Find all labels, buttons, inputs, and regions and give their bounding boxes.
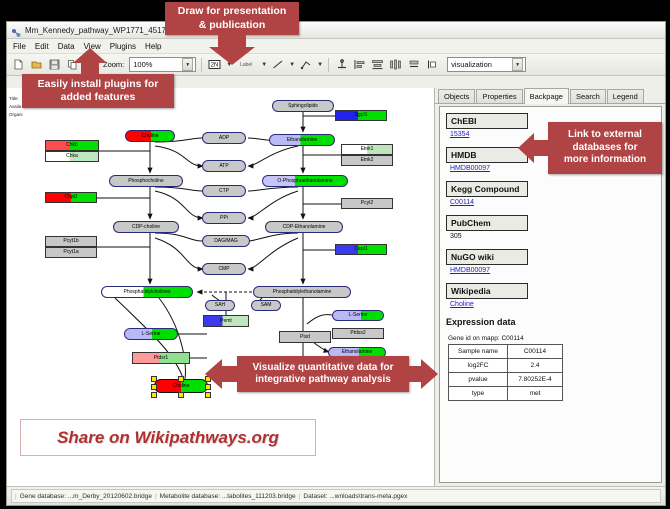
- cell-key: pvalue: [449, 373, 508, 387]
- db-card-hmdb: HMDB: [446, 147, 528, 163]
- node-label: Chpt1: [64, 195, 77, 200]
- distribute-horizontal-icon[interactable]: [388, 57, 403, 72]
- toolbar-separator: [328, 58, 329, 72]
- node-label: Ethanolamine: [287, 138, 318, 143]
- status-bar: | Gene database: ...m_Derby_20120602.bri…: [7, 486, 665, 505]
- visualization-value: visualization: [451, 60, 492, 69]
- node-label: Etnk1: [361, 147, 374, 152]
- cofactor-node[interactable]: CMP: [202, 263, 246, 275]
- window-titlebar: Mm_Kennedy_pathway_WP1771_45176.gpml: [7, 22, 665, 39]
- node-label: Pcyt1a: [63, 250, 78, 255]
- node-label: DAG/MAG: [214, 239, 238, 244]
- tab-search[interactable]: Search: [570, 89, 606, 103]
- selection-handle[interactable]: [178, 376, 184, 382]
- callout-share-text: Share on Wikipathways.org: [57, 428, 279, 448]
- metabolite-node[interactable]: CDP-Ethanolamine: [265, 221, 343, 233]
- distribute-vertical-icon[interactable]: [370, 57, 385, 72]
- cofactor-node[interactable]: PPi: [202, 212, 246, 224]
- arrow-tool-icon[interactable]: [298, 57, 313, 72]
- canvas-info-organism: Organi: [9, 112, 23, 117]
- callout-visualize-left-head: [205, 359, 222, 389]
- screenshot-frame: Mm_Kennedy_pathway_WP1771_45176.gpml Fil…: [0, 0, 670, 509]
- line-chevron-icon[interactable]: ▼: [289, 62, 295, 68]
- new-file-icon[interactable]: [11, 57, 26, 72]
- callout-links-line3: more information: [564, 154, 646, 167]
- metabolite-node[interactable]: Choline: [125, 130, 175, 142]
- gene-node[interactable]: Pcyt1a: [45, 247, 97, 258]
- node-label: CDP-Ethanolamine: [283, 225, 326, 230]
- metabolite-node[interactable]: Phosphatidylethanolamine: [253, 286, 351, 298]
- callout-draw-arrow-stem: [218, 35, 246, 47]
- chevron-down-icon[interactable]: ▼: [182, 58, 193, 71]
- tab-backpage[interactable]: Backpage: [524, 88, 569, 104]
- chevron-down-icon[interactable]: ▼: [512, 58, 523, 71]
- status-bar-inner: | Gene database: ...m_Derby_20120602.bri…: [11, 489, 661, 503]
- cofactor-node[interactable]: ATP: [202, 160, 246, 172]
- selection-handle[interactable]: [151, 376, 157, 382]
- toolbar-separator: [201, 58, 202, 72]
- status-dataset: Dataset: ...wnloads\trans-meta.pgex: [303, 493, 407, 500]
- group-icon[interactable]: [424, 57, 439, 72]
- table-row: type met: [449, 387, 563, 401]
- node-label: Chkb: [66, 143, 78, 148]
- metabolite-node[interactable]: CDP-choline: [113, 221, 179, 233]
- menu-plugins[interactable]: Plugins: [109, 42, 137, 51]
- cell-value: 7.80252E-4: [508, 373, 563, 387]
- node-label: O-Phosphoethanolamine: [277, 179, 332, 184]
- save-file-icon[interactable]: [47, 57, 62, 72]
- label-chevron-icon[interactable]: ▼: [261, 62, 267, 68]
- cell-value: met: [508, 387, 563, 401]
- node-label: Pemt: [220, 319, 232, 324]
- node-label: Ptdsr1: [154, 356, 168, 361]
- metabolite-node[interactable]: O-Phosphoethanolamine: [262, 175, 348, 187]
- selection-handle[interactable]: [151, 392, 157, 398]
- cofactor-node[interactable]: CTP: [202, 185, 246, 197]
- tab-properties[interactable]: Properties: [476, 89, 522, 103]
- node-label: ATP: [219, 164, 228, 169]
- callout-visualize-line2: integrative pathway analysis: [255, 374, 391, 387]
- callout-draw-arrow-head: [209, 47, 255, 65]
- node-label: L-Serine: [142, 332, 161, 337]
- db-card-nugo: NuGO wiki: [446, 249, 528, 265]
- node-label: Pcyt1b: [63, 239, 78, 244]
- table-row: Sample name C00114: [449, 345, 563, 359]
- expression-data-heading: Expression data: [446, 317, 661, 327]
- db-link-kegg[interactable]: C00114: [450, 199, 661, 206]
- node-label: Etnk2: [361, 158, 374, 163]
- visualization-combo[interactable]: visualization ▼: [447, 57, 526, 72]
- menu-edit[interactable]: Edit: [34, 42, 50, 51]
- callout-visualize-left-stem: [221, 366, 239, 382]
- callout-draw: Draw for presentation & publication: [165, 2, 299, 35]
- tab-legend[interactable]: Legend: [607, 89, 644, 103]
- canvas-info-title: Title:: [9, 96, 19, 101]
- node-label: Cept1: [354, 247, 367, 252]
- line-tool-icon[interactable]: [270, 57, 285, 72]
- callout-plugins: Easily install plugins for added feature…: [22, 74, 174, 108]
- gene-node[interactable]: Cept1: [335, 244, 387, 255]
- callout-links-arrow-head: [518, 133, 534, 163]
- db-card-chebi: ChEBI: [446, 113, 528, 129]
- gene-node[interactable]: Pisd: [279, 331, 331, 343]
- callout-draw-line1: Draw for presentation: [178, 5, 287, 18]
- gene-node[interactable]: Chkb: [45, 140, 99, 151]
- callout-links: Link to external databases for more info…: [548, 122, 662, 174]
- node-label: CDP-choline: [132, 225, 160, 230]
- cofactor-node[interactable]: SAH: [205, 300, 235, 311]
- cell-key: Sample name: [449, 345, 508, 359]
- gene-node[interactable]: Chpt1: [45, 192, 97, 203]
- node-label: Phosphatidylcholines: [124, 290, 171, 295]
- node-label: Chka: [66, 154, 78, 159]
- node-label: Pisd: [300, 335, 310, 340]
- stack-icon[interactable]: [406, 57, 421, 72]
- align-left-icon[interactable]: [352, 57, 367, 72]
- node-label: Sphingolipids: [288, 104, 318, 109]
- cell-key: type: [449, 387, 508, 401]
- metabolite-node[interactable]: Phosphatidylcholines: [101, 286, 193, 298]
- status-divider: |: [15, 493, 17, 500]
- node-label: Ethanolamine: [342, 350, 373, 355]
- status-divider: |: [155, 493, 157, 500]
- pathvisio-icon: [11, 25, 21, 35]
- gene-node[interactable]: Ptdss2: [332, 328, 384, 339]
- expression-data-table: Sample name C00114 log2FC 2.4 pvalue 7.8…: [448, 344, 563, 401]
- callout-visualize: Visualize quantitative data for integrat…: [237, 356, 409, 392]
- gene-node[interactable]: Pcyt1b: [45, 236, 97, 247]
- arrow-chevron-icon[interactable]: ▼: [317, 62, 323, 68]
- cell-value: C00114: [508, 345, 563, 359]
- anchor-tool-icon[interactable]: [334, 57, 349, 72]
- node-label: Sgpl1: [355, 113, 368, 118]
- metabolite-node[interactable]: L-Serine: [124, 328, 178, 340]
- node-label: Phosphatidylethanolamine: [273, 290, 332, 295]
- metabolite-node[interactable]: Phosphocholine: [109, 175, 183, 187]
- node-label: Phosphocholine: [128, 179, 164, 184]
- callout-share: Share on Wikipathways.org: [20, 419, 316, 456]
- callout-links-line1: Link to external: [568, 129, 642, 142]
- tab-objects[interactable]: Objects: [438, 89, 475, 103]
- menu-help[interactable]: Help: [144, 42, 162, 51]
- cell-value: 2.4: [508, 359, 563, 373]
- callout-visualize-right-head: [421, 359, 438, 389]
- gene-node[interactable]: Etnk2: [341, 155, 393, 166]
- gene-node[interactable]: Sgpl1: [335, 110, 387, 121]
- node-label: Choline: [142, 134, 159, 139]
- metabolite-node[interactable]: Ethanolamine: [269, 134, 335, 146]
- db-card-wikipedia: Wikipedia: [446, 283, 528, 299]
- db-card-pubchem: PubChem: [446, 215, 528, 231]
- callout-plugins-line1: Easily install plugins for: [38, 78, 159, 91]
- callout-plugins-arrow-stem: [81, 62, 99, 75]
- metabolite-node[interactable]: L-Serine: [332, 310, 384, 321]
- gene-node[interactable]: Pcyt2: [341, 198, 393, 209]
- gene-node[interactable]: Chka: [45, 151, 99, 162]
- table-row: pvalue 7.80252E-4: [449, 373, 563, 387]
- db-link-wikipedia[interactable]: Choline: [450, 301, 661, 308]
- callout-visualize-line1: Visualize quantitative data for: [253, 362, 394, 375]
- metabolite-node[interactable]: Sphingolipids: [272, 100, 334, 112]
- selection-handle[interactable]: [178, 392, 184, 398]
- open-file-icon[interactable]: [29, 57, 44, 72]
- db-value-pubchem: 305: [450, 233, 661, 240]
- callout-plugins-arrow-head: [73, 48, 107, 63]
- node-label: SAM: [261, 303, 272, 308]
- side-panel-tabs[interactable]: Objects Properties Backpage Search Legen…: [435, 88, 665, 104]
- status-metabolite-database: Metabolite database: ...tabolites_111203…: [160, 493, 296, 500]
- node-label: SAH: [215, 303, 225, 308]
- cofactor-node[interactable]: SAM: [251, 300, 281, 311]
- node-label: CTP: [219, 189, 229, 194]
- gene-node[interactable]: Ptdsr1: [132, 352, 190, 364]
- gene-id-on-mapp: Gene id on mapp: C00114: [448, 335, 661, 342]
- selection-handle[interactable]: [205, 392, 211, 398]
- cofactor-node[interactable]: DAG/MAG: [202, 235, 250, 247]
- callout-links-arrow-stem: [533, 140, 550, 156]
- cofactor-node[interactable]: ADP: [202, 132, 246, 144]
- callout-plugins-line2: added features: [61, 91, 136, 104]
- selection-handle[interactable]: [151, 384, 157, 390]
- node-label: PPi: [220, 216, 228, 221]
- gene-node[interactable]: Etnk1: [341, 144, 393, 155]
- node-label: Pcyt2: [361, 201, 374, 206]
- node-label: CMP: [218, 267, 229, 272]
- canvas-info-available: Availa: [9, 104, 21, 109]
- status-gene-database: Gene database: ...m_Derby_20120602.bridg…: [20, 493, 152, 500]
- status-divider: |: [299, 493, 301, 500]
- zoom-combo[interactable]: 100% ▼: [129, 57, 196, 72]
- callout-draw-line2: & publication: [199, 19, 266, 32]
- db-link-nugo[interactable]: HMDB00097: [450, 267, 661, 274]
- node-label: L-Serine: [349, 313, 368, 318]
- menu-file[interactable]: File: [12, 42, 27, 51]
- cell-key: log2FC: [449, 359, 508, 373]
- gene-node[interactable]: Pemt: [203, 315, 249, 327]
- callout-links-line2: databases for: [572, 142, 637, 155]
- db-card-kegg: Kegg Compound: [446, 181, 528, 197]
- node-label: Ptdss2: [350, 331, 365, 336]
- node-label: ADP: [219, 136, 229, 141]
- zoom-value: 100%: [133, 60, 152, 69]
- table-row: log2FC 2.4: [449, 359, 563, 373]
- node-label: Choline: [173, 384, 190, 389]
